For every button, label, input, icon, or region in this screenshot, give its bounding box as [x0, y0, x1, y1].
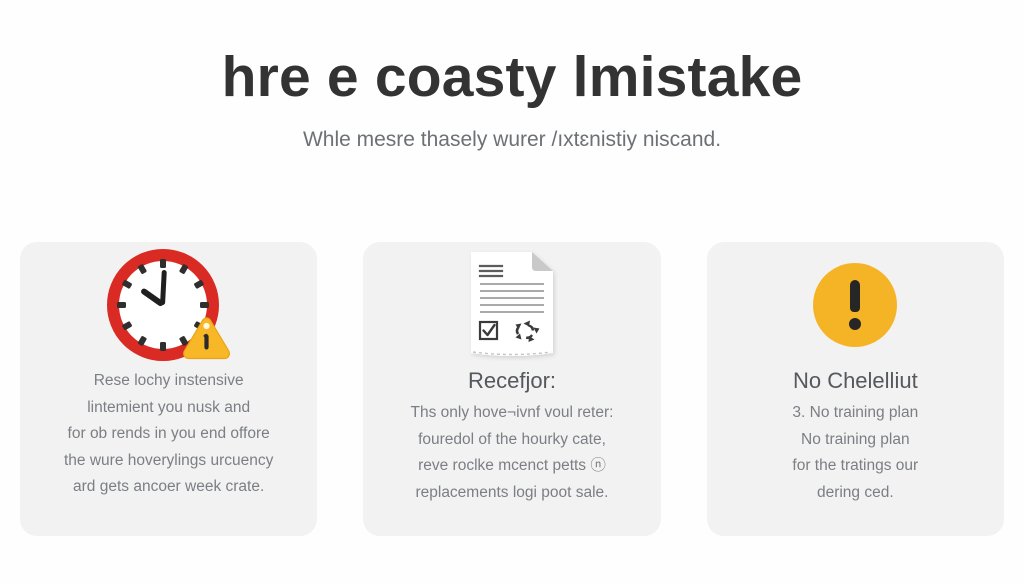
- folded-corner-icon: [532, 252, 553, 271]
- page-root: hre e coasty lmistake Whle mesre thasely…: [0, 0, 1024, 585]
- clock-tick-2: [193, 279, 204, 289]
- card-info-icon-area: [707, 242, 1004, 368]
- clock-tick-11: [137, 264, 147, 275]
- exclamation-dot: [849, 318, 861, 330]
- document-checklist-icon: [466, 249, 558, 361]
- warning-triangle-badge-icon: [179, 315, 233, 363]
- exclamation-bar: [850, 280, 860, 312]
- card-clock-body: Rese lochy instensive lintemient you nus…: [50, 368, 287, 501]
- card-document-heading: Recefjor:: [468, 368, 556, 394]
- card-clock-icon-area: [20, 242, 317, 368]
- page-title: hre e coasty lmistake: [0, 42, 1024, 112]
- cards-row: Rese lochy instensive lintemient you nus…: [20, 242, 1004, 536]
- clock-warning-icon: [107, 249, 231, 361]
- page-subtitle: Whle mesre thasely wurer /ıxtɛnistiy nis…: [0, 126, 1024, 154]
- info-exclamation-icon: [813, 263, 897, 347]
- card-clock[interactable]: Rese lochy instensive lintemient you nus…: [20, 242, 317, 536]
- clock-tick-1: [179, 264, 189, 275]
- clock-tick-6: [160, 342, 166, 351]
- card-info[interactable]: No Chelelliut 3. No training plan No tra…: [707, 242, 1004, 536]
- clock-tick-9: [117, 302, 126, 308]
- clock-tick-3: [200, 302, 209, 308]
- clock-tick-10: [121, 279, 132, 289]
- clock-tick-8: [121, 321, 132, 331]
- clock-tick-7: [137, 336, 147, 347]
- card-document[interactable]: Recefjor: Ths only hove¬ivnf voul reter:…: [363, 242, 660, 536]
- header: hre e coasty lmistake Whle mesre thasely…: [0, 42, 1024, 154]
- card-document-body: Ths only hove¬ivnf voul reter: fouredol …: [397, 400, 628, 506]
- card-document-icon-area: [363, 242, 660, 368]
- card-info-heading: No Chelelliut: [793, 368, 918, 394]
- card-info-body: 3. No training plan No training plan for…: [778, 400, 932, 506]
- clock-tick-12: [160, 259, 166, 268]
